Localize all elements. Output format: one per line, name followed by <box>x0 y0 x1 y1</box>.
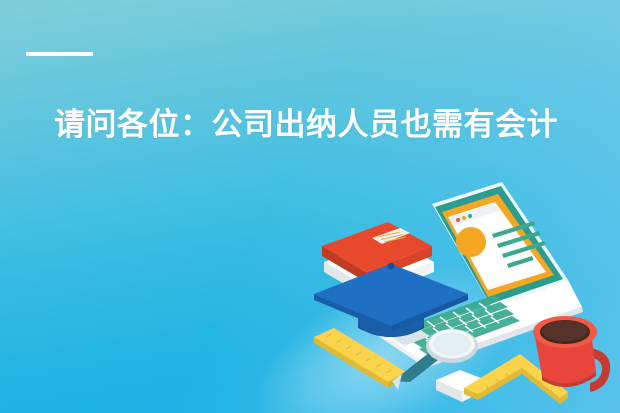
article-banner: 请问各位：公司出纳人员也需有会计 <box>0 0 620 413</box>
page-title: 请问各位：公司出纳人员也需有会计 <box>54 104 594 146</box>
top-rule-divider <box>26 52 93 56</box>
study-desk-illustration <box>306 176 620 413</box>
coffee-mug-icon <box>533 316 610 392</box>
